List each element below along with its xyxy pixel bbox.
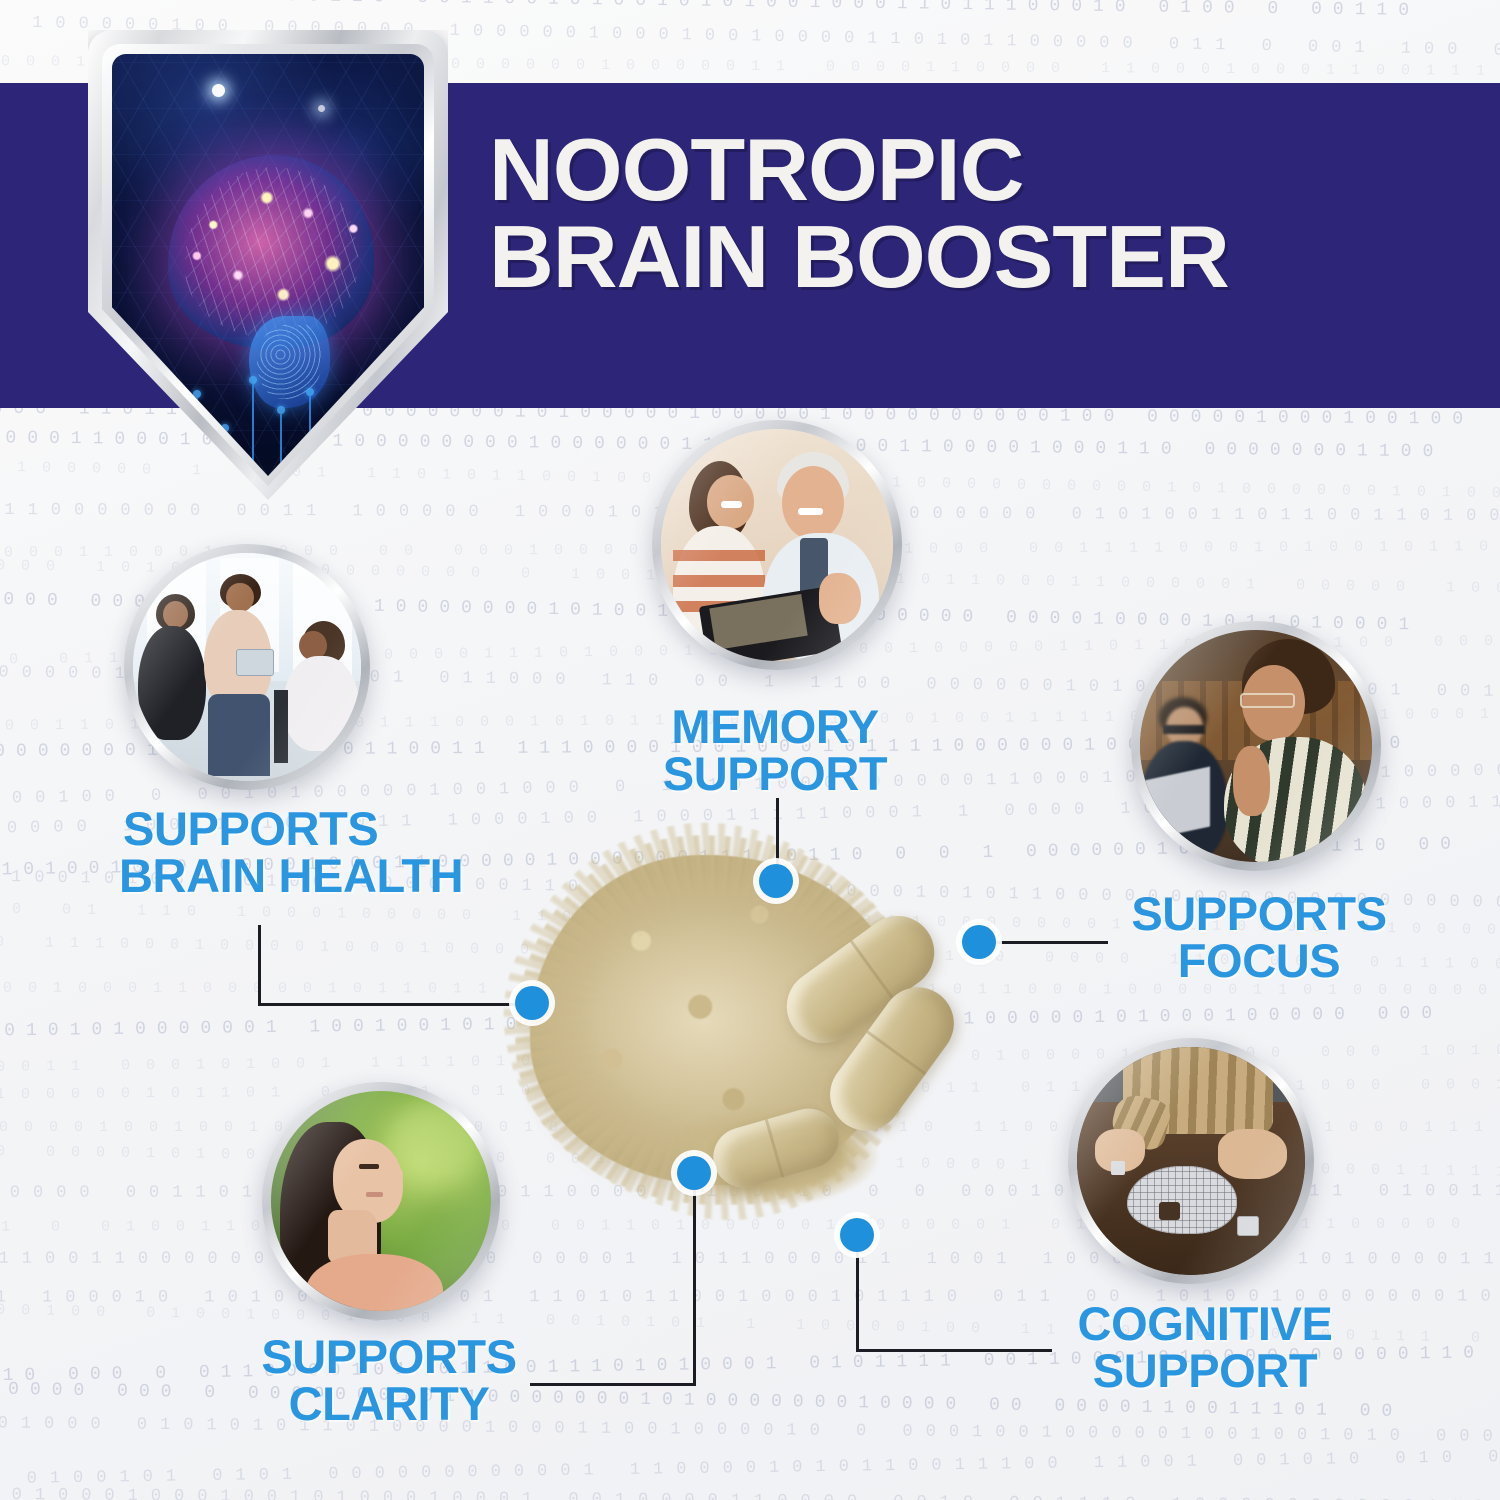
label-cognitive: COGNITIVE SUPPORT [1040,1300,1370,1394]
outdoors-scene [271,1091,491,1311]
photo-clarity[interactable] [262,1082,500,1320]
title-line-2: BRAIN BOOSTER [489,213,1468,300]
photo-memory[interactable] [652,420,902,670]
label-brain-health-line-1: SUPPORTS [119,805,539,852]
shield-artwork [112,54,424,476]
connector-dot-clarity [677,1156,711,1190]
office-scene [133,553,361,781]
label-focus-line-2: FOCUS [1109,937,1409,984]
library-scene [1140,630,1372,862]
label-focus: SUPPORTS FOCUS [1109,890,1409,984]
spark-icon [212,84,225,97]
album-scene [661,429,893,661]
photo-inner [271,1091,491,1311]
label-memory: MEMORY SUPPORT [615,703,935,797]
photo-brain-health[interactable] [124,544,370,790]
shield-brain-icon [88,30,448,500]
label-focus-line-1: SUPPORTS [1109,890,1409,937]
label-memory-line-1: MEMORY [615,703,935,750]
photo-inner [661,429,893,661]
photo-focus[interactable] [1131,621,1381,871]
photo-inner [1140,630,1372,862]
photo-inner [1077,1047,1305,1275]
label-cognitive-line-1: COGNITIVE [1040,1300,1370,1347]
connector-dot-memory [759,864,793,898]
infographic-canvas: 100011 0010100000000110 0011001010010101… [0,0,1500,1500]
photo-cognitive[interactable] [1068,1038,1314,1284]
photo-inner [133,553,361,781]
title-line-1: NOOTROPIC [489,126,1468,213]
connector-dot-focus [962,925,996,959]
label-brain-health: SUPPORTS BRAIN HEALTH [119,805,539,899]
spark-icon [318,105,325,112]
product-powder-capsules [520,855,1000,1245]
connector-dot-cognitive [840,1218,874,1252]
label-memory-line-2: SUPPORT [615,750,935,797]
label-cognitive-line-2: SUPPORT [1040,1347,1370,1394]
connector-dot-brain-health [515,986,549,1020]
label-clarity: SUPPORTS CLARITY [229,1333,549,1427]
page-title: NOOTROPIC BRAIN BOOSTER [489,126,1468,300]
label-clarity-line-1: SUPPORTS [229,1333,549,1380]
puzzle-scene [1077,1047,1305,1275]
label-clarity-line-2: CLARITY [229,1380,549,1427]
label-brain-health-line-2: BRAIN HEALTH [119,852,539,899]
